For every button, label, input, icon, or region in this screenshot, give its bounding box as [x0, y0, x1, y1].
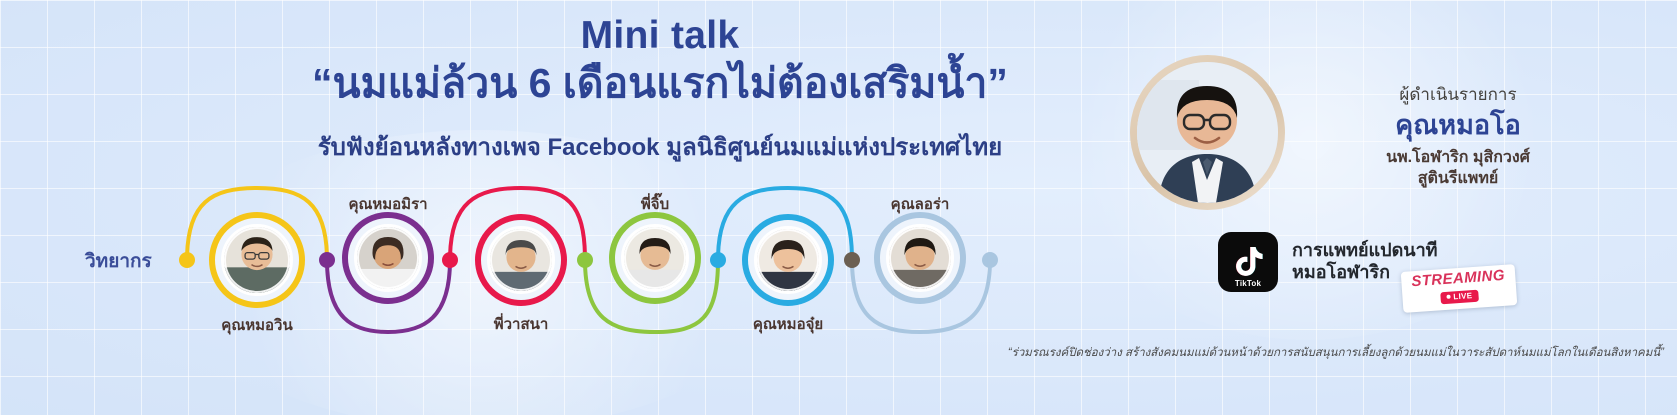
speaker-label-1: คุณหมอวิน	[221, 313, 292, 337]
speaker-node-6[interactable]	[874, 212, 966, 304]
footer-caption: “ร่วมรณรงค์ปิดช่องว่าง สร้างสังคมนมแม่ด้…	[836, 344, 1664, 362]
host-specialty: สูตินรีแพทย์	[1298, 168, 1618, 190]
tiktok-wordmark: TikTok	[1218, 279, 1278, 288]
headline-subtitle: รับฟังย้อนหลังทางเพจ Facebook มูลนิธิศูน…	[255, 127, 1065, 166]
speaker-label-2: คุณหมอมิรา	[348, 192, 427, 216]
host-details: ผู้ดำเนินรายการ คุณหมอโอ นพ.โอฬาริก มุสิ…	[1298, 81, 1618, 190]
live-label: LIVE	[1453, 291, 1473, 301]
host-portrait	[1137, 62, 1278, 203]
avatar	[1137, 62, 1278, 203]
live-dot-icon	[1446, 295, 1450, 299]
speaker-portrait-5	[757, 229, 819, 291]
status-badge: STREAMING LIVE	[1401, 264, 1517, 313]
speaker-label-3: พี่วาสนา	[494, 312, 549, 336]
channel-name-line1: การแพทย์แปดนาที	[1292, 240, 1438, 262]
speaker-portrait-4	[624, 227, 686, 289]
live-badge: LIVE	[1440, 290, 1479, 305]
host-role-label: ผู้ดำเนินรายการ	[1298, 81, 1618, 108]
host-avatar-frame	[1130, 55, 1285, 210]
speaker-portrait-6	[889, 227, 951, 289]
tiktok-note-glyph	[1233, 245, 1263, 279]
promo-banner: Mini talk “นมแม่ล้วน 6 เดือนแรกไม่ต้องเส…	[0, 0, 1677, 415]
tiktok-icon[interactable]: TikTok	[1218, 232, 1278, 292]
headline-quote: “นมแม่ล้วน 6 เดือนแรกไม่ต้องเสริมน้ำ”	[255, 59, 1065, 107]
speaker-label-4: พี่จิ๊บ	[641, 192, 669, 216]
speaker-label-5: คุณหมอจุ๋ย	[753, 312, 823, 336]
host-full-name: นพ.โอฬาริก มุสิกวงศ์	[1298, 147, 1618, 169]
streaming-label: STREAMING	[1411, 268, 1505, 289]
speaker-node-2[interactable]	[342, 212, 434, 304]
headline-block: Mini talk “นมแม่ล้วน 6 เดือนแรกไม่ต้องเส…	[255, 16, 1065, 166]
speaker-node-3[interactable]	[475, 214, 567, 306]
speaker-node-5[interactable]	[742, 214, 834, 306]
page-title: Mini talk	[255, 16, 1065, 57]
speaker-node-1[interactable]	[209, 212, 305, 308]
speaker-portrait-3	[490, 229, 552, 291]
speaker-portrait-2	[357, 227, 419, 289]
host-panel: ผู้ดำเนินรายการ คุณหมอโอ นพ.โอฬาริก มุสิ…	[1130, 55, 1670, 255]
speaker-label-6: คุณลอร่า	[891, 192, 950, 216]
host-nickname: คุณหมอโอ	[1298, 111, 1618, 141]
speaker-node-4[interactable]	[609, 212, 701, 304]
speaker-portrait-1	[224, 227, 290, 293]
